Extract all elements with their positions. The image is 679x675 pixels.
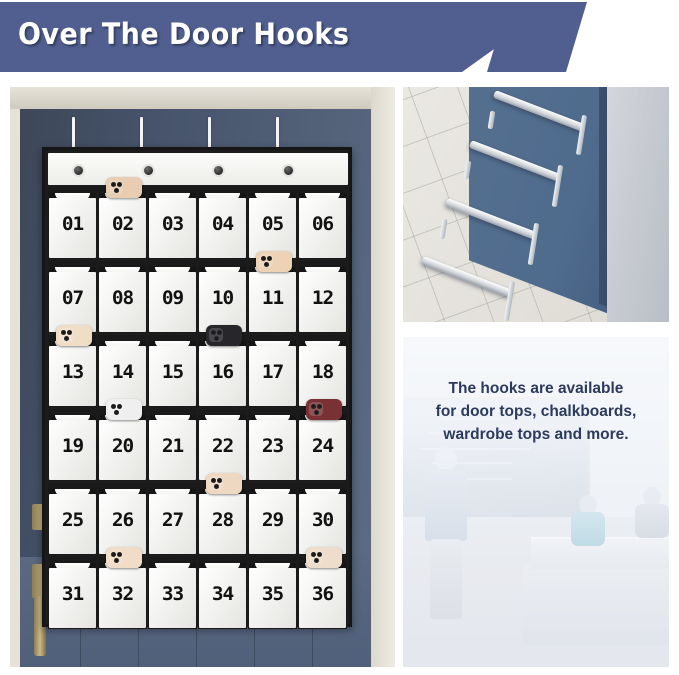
pocket-03[interactable]: 03 (148, 187, 197, 259)
pocket-number: 16 (198, 361, 248, 383)
caption-line-3: wardrobe tops and more. (403, 423, 669, 446)
pocket-14[interactable]: 14 (98, 335, 147, 407)
pocket-number: 25 (48, 509, 98, 531)
pocket-number: 01 (48, 213, 98, 235)
phone-in-pocket-36 (306, 547, 342, 568)
pocket-number: 09 (148, 287, 198, 309)
pocket-number: 32 (98, 583, 148, 605)
pocket-34[interactable]: 34 (198, 557, 247, 629)
door-frame-top (10, 87, 395, 111)
pocket-30[interactable]: 30 (298, 483, 347, 555)
pocket-number: 05 (248, 213, 298, 235)
pocket-number: 20 (98, 435, 148, 457)
pocket-11[interactable]: 11 (248, 261, 297, 333)
pocket-09[interactable]: 09 (148, 261, 197, 333)
pocket-number: 34 (198, 583, 248, 605)
pocket-number: 27 (148, 509, 198, 531)
caption-line-1: The hooks are available (403, 377, 669, 400)
pocket-07[interactable]: 07 (48, 261, 97, 333)
pocket-number: 19 (48, 435, 98, 457)
pocket-row: 131415161718 (48, 335, 348, 407)
pocket-02[interactable]: 02 (98, 187, 147, 259)
door-frame-right (371, 87, 395, 667)
door-surface: 0102030405060708091011121314151617181920… (20, 109, 371, 667)
pocket-05[interactable]: 05 (248, 187, 297, 259)
pocket-23[interactable]: 23 (248, 409, 297, 481)
pocket-12[interactable]: 12 (298, 261, 347, 333)
pocket-number: 30 (298, 509, 348, 531)
door-pocket-chart-photo: 0102030405060708091011121314151617181920… (10, 87, 395, 667)
pocket-row: 070809101112 (48, 261, 348, 333)
pocket-row: 010203040506 (48, 187, 348, 259)
phone-in-pocket-02 (106, 177, 142, 198)
pocket-number: 31 (48, 583, 98, 605)
pocket-13[interactable]: 13 (48, 335, 97, 407)
pocket-number: 06 (298, 213, 348, 235)
pocket-08[interactable]: 08 (98, 261, 147, 333)
metal-hooks-over-door-photo (403, 87, 669, 322)
caption-text: The hooks are available for door tops, c… (403, 377, 669, 446)
header-banner: Over The Door Hooks (0, 0, 679, 78)
pocket-28[interactable]: 28 (198, 483, 247, 555)
phone-in-pocket-16 (206, 325, 242, 346)
pocket-17[interactable]: 17 (248, 335, 297, 407)
pocket-number: 36 (298, 583, 348, 605)
pocket-number: 33 (148, 583, 198, 605)
pocket-number: 21 (148, 435, 198, 457)
phone-in-pocket-32 (106, 547, 142, 568)
pocket-number: 29 (248, 509, 298, 531)
caption-line-2: for door tops, chalkboards, (403, 400, 669, 423)
pocket-number: 03 (148, 213, 198, 235)
pocket-15[interactable]: 15 (148, 335, 197, 407)
phone-in-pocket-24 (306, 399, 342, 420)
hanging-hooks (20, 109, 371, 149)
pocket-35[interactable]: 35 (248, 557, 297, 629)
phone-in-pocket-20 (106, 399, 142, 420)
pocket-number: 04 (198, 213, 248, 235)
phone-in-pocket-13 (56, 325, 92, 346)
product-infographic: Over The Door Hooks (0, 0, 679, 675)
pocket-22[interactable]: 22 (198, 409, 247, 481)
door-frame-left (10, 109, 20, 667)
pocket-number: 28 (198, 509, 248, 531)
pocket-number: 24 (298, 435, 348, 457)
page-title: Over The Door Hooks (18, 17, 349, 51)
pocket-20[interactable]: 20 (98, 409, 147, 481)
pocket-row: 252627282930 (48, 483, 348, 555)
pocket-16[interactable]: 16 (198, 335, 247, 407)
pocket-number: 02 (98, 213, 148, 235)
phone-in-pocket-28 (206, 473, 242, 494)
pocket-number: 17 (248, 361, 298, 383)
pocket-chart: 0102030405060708091011121314151617181920… (42, 147, 352, 627)
pocket-18[interactable]: 18 (298, 335, 347, 407)
pocket-number: 14 (98, 361, 148, 383)
pocket-number: 22 (198, 435, 248, 457)
pocket-number: 07 (48, 287, 98, 309)
classroom-usage-photo: The hooks are available for door tops, c… (403, 337, 669, 667)
pocket-36[interactable]: 36 (298, 557, 347, 629)
pocket-27[interactable]: 27 (148, 483, 197, 555)
phone-in-pocket-11 (256, 251, 292, 272)
wall-right (607, 87, 669, 322)
chart-top-band (48, 153, 348, 185)
pocket-number: 15 (148, 361, 198, 383)
pocket-number: 11 (248, 287, 298, 309)
pocket-31[interactable]: 31 (48, 557, 97, 629)
pocket-number: 35 (248, 583, 298, 605)
pocket-25[interactable]: 25 (48, 483, 97, 555)
pocket-10[interactable]: 10 (198, 261, 247, 333)
pocket-number: 23 (248, 435, 298, 457)
pocket-number: 26 (98, 509, 148, 531)
pocket-number: 12 (298, 287, 348, 309)
pocket-29[interactable]: 29 (248, 483, 297, 555)
pocket-32[interactable]: 32 (98, 557, 147, 629)
pocket-21[interactable]: 21 (148, 409, 197, 481)
pocket-06[interactable]: 06 (298, 187, 347, 259)
pocket-row: 313233343536 (48, 557, 348, 629)
pocket-number: 10 (198, 287, 248, 309)
pocket-number: 18 (298, 361, 348, 383)
pocket-number: 13 (48, 361, 98, 383)
pocket-number: 08 (98, 287, 148, 309)
pocket-04[interactable]: 04 (198, 187, 247, 259)
pocket-row: 192021222324 (48, 409, 348, 481)
pocket-26[interactable]: 26 (98, 483, 147, 555)
pocket-33[interactable]: 33 (148, 557, 197, 629)
pocket-01[interactable]: 01 (48, 187, 97, 259)
pocket-19[interactable]: 19 (48, 409, 97, 481)
pocket-24[interactable]: 24 (298, 409, 347, 481)
